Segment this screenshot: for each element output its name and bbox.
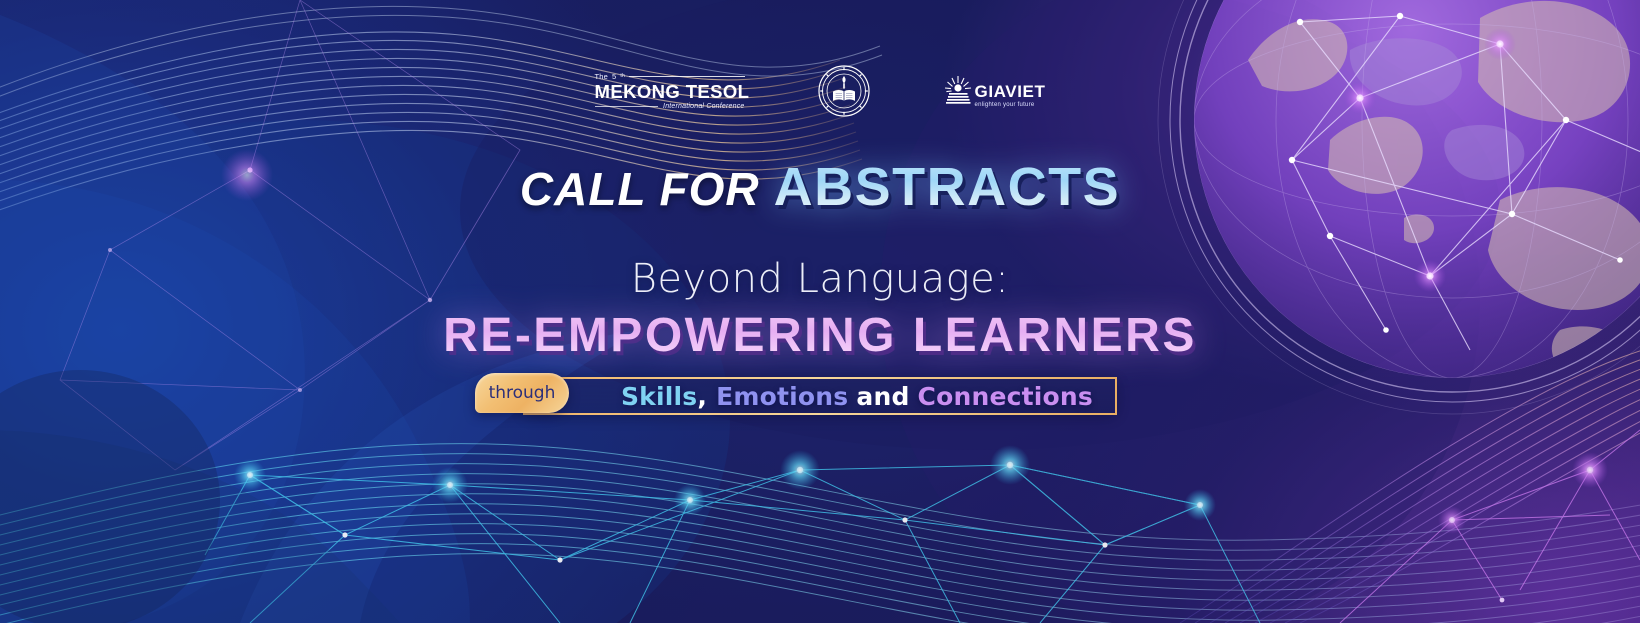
conference-banner: The5th MEKONG TESOL International Confer… xyxy=(0,0,1640,623)
giaviet-tagline: enlighten your future xyxy=(975,102,1046,108)
theme-word-connections: Connections xyxy=(918,382,1093,411)
giaviet-name: GIAVIET xyxy=(975,83,1046,100)
sponsor-logo-row: The5th MEKONG TESOL International Confer… xyxy=(0,64,1640,118)
through-pill-label: through xyxy=(475,373,569,413)
call-for-text: CALL FOR xyxy=(520,163,760,215)
call-for-abstracts-title: CALL FORABSTRACTS xyxy=(0,160,1640,214)
mekong-tesol-logo: The5th MEKONG TESOL International Confer… xyxy=(595,72,745,110)
logo-edition-prefix: The xyxy=(595,72,609,81)
theme-line-2: RE-EMPOWERING LEARNERS xyxy=(0,308,1640,363)
theme-conjunction: and xyxy=(856,382,909,411)
theme-comma: , xyxy=(697,382,707,411)
through-banner: through Skills , Emotions and Connection… xyxy=(523,377,1117,415)
logo-rule-bottom xyxy=(595,106,659,107)
logo-edition-number: 5 xyxy=(612,72,616,81)
theme-word-skills: Skills xyxy=(621,382,697,411)
logo-subtitle: International Conference xyxy=(663,103,744,110)
headline-block: CALL FORABSTRACTS Beyond Language: RE-EM… xyxy=(0,160,1640,415)
giaviet-logo: GIAVIET enlighten your future xyxy=(943,74,1046,108)
logo-edition-line: The5th xyxy=(595,72,745,81)
giaviet-name-b: VIET xyxy=(1005,82,1045,101)
theme-line-1: Beyond Language: xyxy=(0,256,1640,302)
abstracts-text: ABSTRACTS xyxy=(774,157,1121,217)
logo-rule-top xyxy=(629,76,745,77)
giaviet-wordmark: GIAVIET enlighten your future xyxy=(975,83,1046,108)
logo-title: MEKONG TESOL xyxy=(595,82,745,101)
through-bar: through Skills , Emotions and Connection… xyxy=(523,377,1117,415)
giaviet-name-a: GIA xyxy=(975,82,1006,101)
logo-edition-suffix: th xyxy=(620,73,625,79)
theme-word-emotions: Emotions xyxy=(716,382,848,411)
logo-subtitle-line: International Conference xyxy=(595,103,745,110)
university-seal-logo xyxy=(817,64,871,118)
giaviet-sunrise-mark xyxy=(943,74,973,108)
